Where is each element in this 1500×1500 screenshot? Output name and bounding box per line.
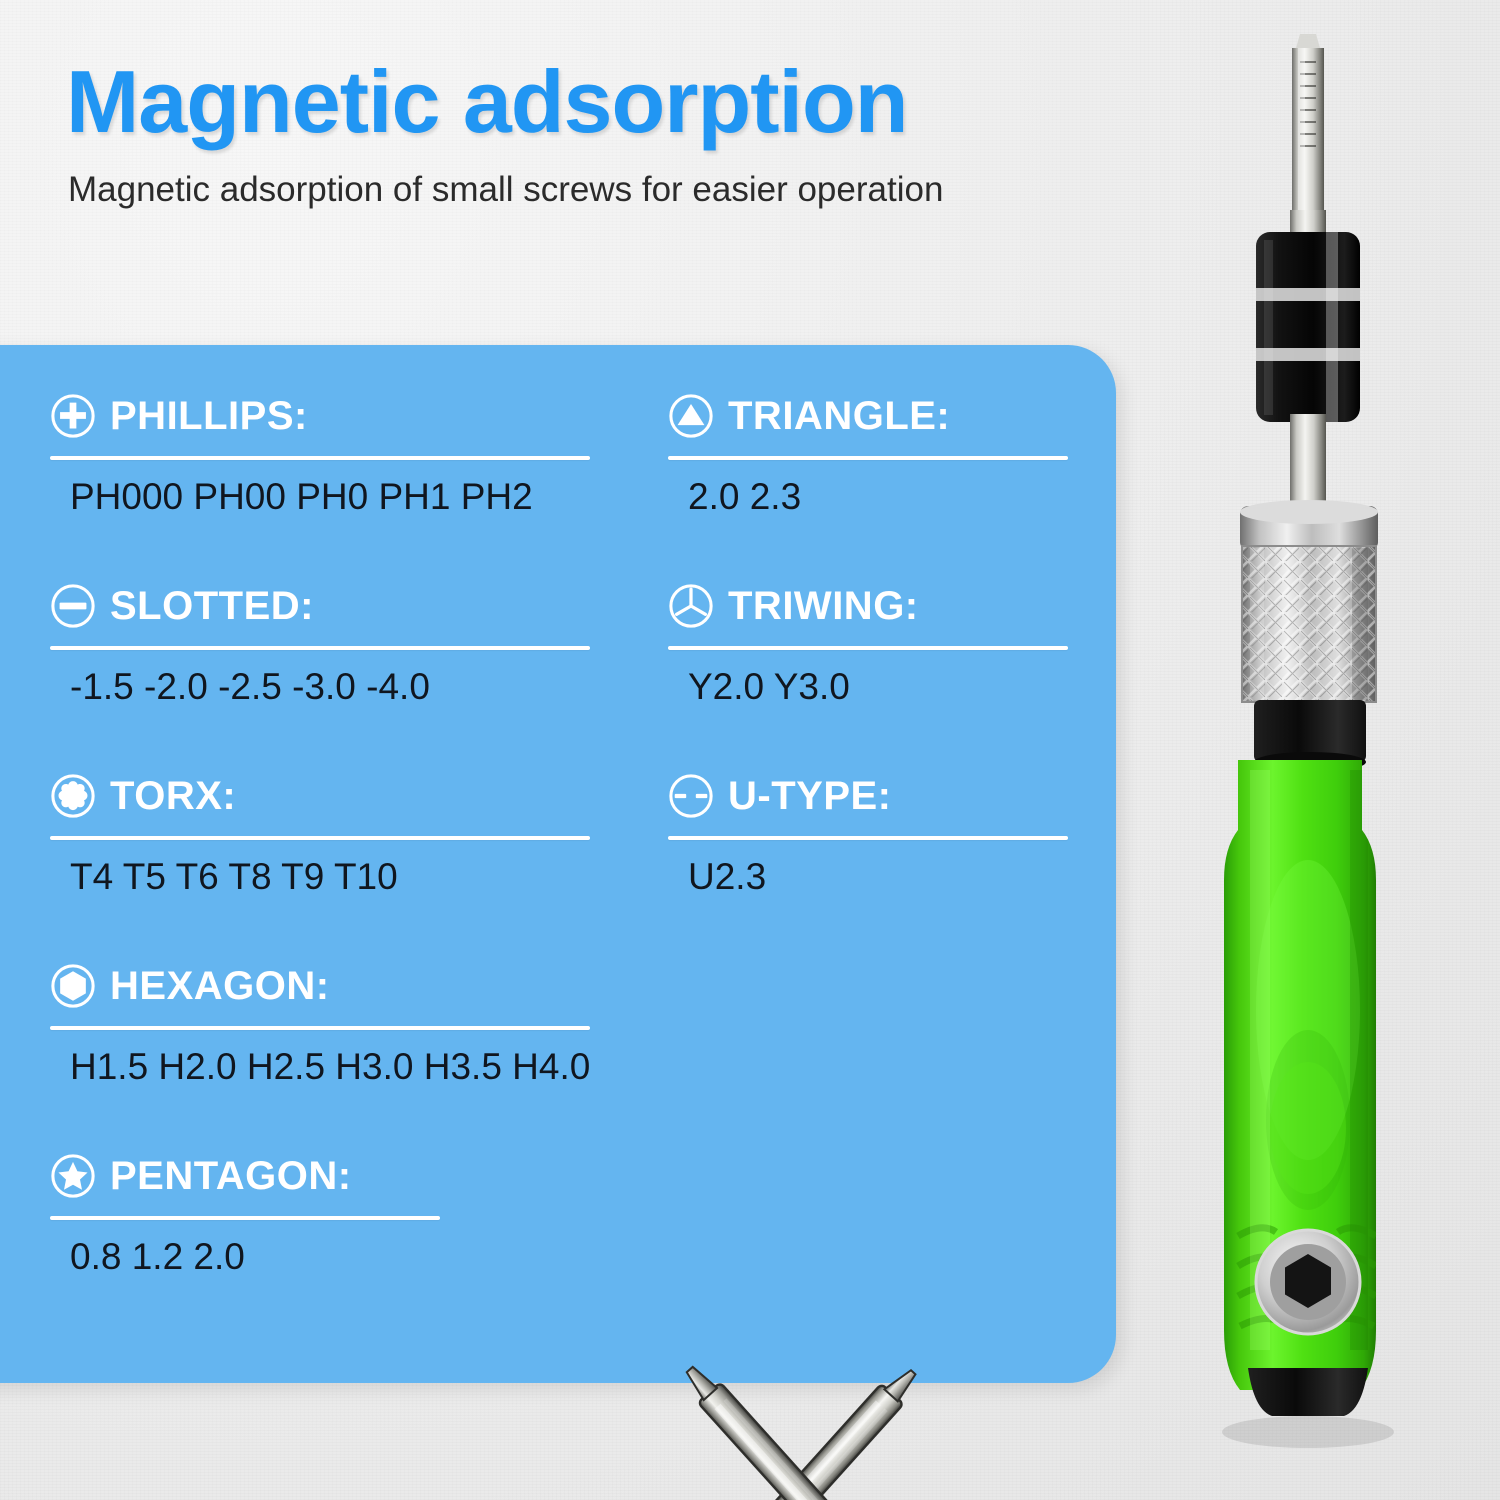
triwing-icon [668,583,714,629]
hex-socket [1256,1230,1360,1334]
spec-label: U-TYPE: [728,776,892,816]
spec-label: HEXAGON: [110,966,330,1006]
spec-label: PHILLIPS: [110,396,308,436]
crossed-screwdriver-bits-photo [600,1330,1000,1500]
phillips-cross-icon [50,393,96,439]
spec-row-torx: TORX: T4 T5 T6 T8 T9 T10 [50,770,590,895]
spec-values: H1.5 H2.0 H2.5 H3.0 H3.5 H4.0 [50,1048,590,1085]
green-handle [1224,760,1376,1416]
spec-label: TRIWING: [728,586,919,626]
spec-row-hexagon: HEXAGON: H1.5 H2.0 H2.5 H3.0 H3.5 H4.0 [50,960,590,1085]
spec-row-phillips: PHILLIPS: PH000 PH00 PH0 PH1 PH2 [50,390,590,515]
spec-heading: SLOTTED: [50,580,590,632]
infographic-canvas: Magnetic adsorption Magnetic adsorption … [0,0,1500,1500]
spec-values: Y2.0 Y3.0 [668,668,1068,705]
spec-values: U2.3 [668,858,1068,895]
hexagon-icon [50,963,96,1009]
page-title: Magnetic adsorption [66,58,908,146]
spec-row-triwing: TRIWING: Y2.0 Y3.0 [668,580,1068,705]
spec-row-triangle: TRIANGLE: 2.0 2.3 [668,390,1068,515]
spec-values: T4 T5 T6 T8 T9 T10 [50,858,590,895]
spec-label: PENTAGON: [110,1156,352,1196]
spec-label: TORX: [110,776,236,816]
spec-values: 2.0 2.3 [668,478,1068,515]
spec-label: TRIANGLE: [728,396,950,436]
spec-divider [668,646,1068,650]
spec-heading: U-TYPE: [668,770,1068,822]
spec-divider [50,1216,440,1220]
pentagon-star-icon [50,1153,96,1199]
torx-star-icon [50,773,96,819]
spec-row-slotted: SLOTTED: -1.5 -2.0 -2.5 -3.0 -4.0 [50,580,590,705]
spec-label: SLOTTED: [110,586,314,626]
spec-divider [50,836,590,840]
spec-divider [50,646,590,650]
page-subtitle: Magnetic adsorption of small screws for … [68,172,943,207]
triangle-icon [668,393,714,439]
u-type-icon [668,773,714,819]
spec-heading: PHILLIPS: [50,390,590,442]
green-handle-screwdriver-photo [1180,0,1480,1500]
spec-divider [50,1026,590,1030]
spec-values: -1.5 -2.0 -2.5 -3.0 -4.0 [50,668,590,705]
spec-divider [50,456,590,460]
spec-values: PH000 PH00 PH0 PH1 PH2 [50,478,590,515]
magnetizer-block [1256,232,1360,422]
spec-values: 0.8 1.2 2.0 [50,1238,440,1275]
slotted-minus-icon [50,583,96,629]
spec-row-u-type: U-TYPE: U2.3 [668,770,1068,895]
spec-divider [668,456,1068,460]
spec-heading: HEXAGON: [50,960,590,1012]
spec-heading: TRIWING: [668,580,1068,632]
spec-row-pentagon: PENTAGON: 0.8 1.2 2.0 [50,1150,440,1275]
spec-divider [668,836,1068,840]
spec-panel: PHILLIPS: PH000 PH00 PH0 PH1 PH2 SLOTTED… [0,345,1116,1383]
spec-heading: TORX: [50,770,590,822]
handle-end-cap [1248,1368,1368,1416]
spec-heading: PENTAGON: [50,1150,440,1202]
spec-heading: TRIANGLE: [668,390,1068,442]
knurled-chuck [1240,500,1378,702]
